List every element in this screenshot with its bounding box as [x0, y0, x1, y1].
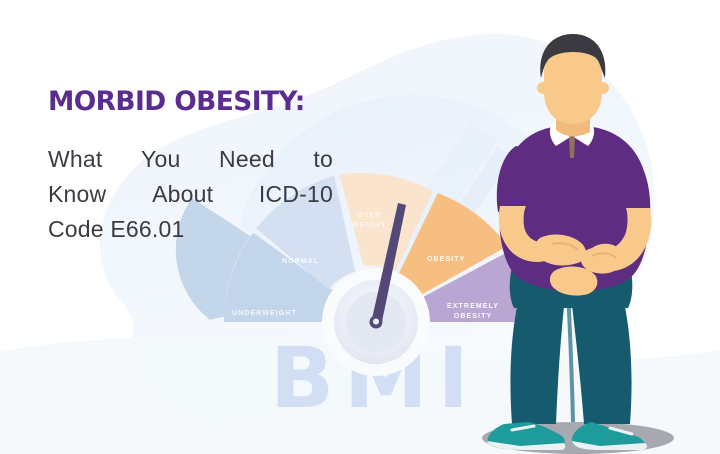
banner-canvas: BMI [0, 0, 720, 454]
figure-placket [569, 136, 575, 158]
subtitle-word: to [313, 142, 333, 177]
page-subtitle: What You Need to Know About ICD-10 Code … [48, 142, 378, 247]
text-block: MORBID OBESITY: What You Need to Know Ab… [48, 88, 378, 247]
subtitle-word: About [152, 177, 213, 212]
subtitle-line-1: What You Need to [48, 142, 333, 177]
subtitle-word: ICD-10 [259, 177, 333, 212]
figure-ear-right [597, 82, 609, 94]
figure-ear-left [537, 82, 549, 94]
subtitle-line-2: Know About ICD-10 [48, 177, 333, 212]
subtitle-word: Need [219, 142, 275, 177]
subtitle-word: Know [48, 177, 106, 212]
subtitle-word: You [141, 142, 180, 177]
page-title: MORBID OBESITY: [48, 88, 371, 116]
subtitle-word: What [48, 142, 102, 177]
subtitle-line-3: Code E66.01 [48, 212, 378, 247]
